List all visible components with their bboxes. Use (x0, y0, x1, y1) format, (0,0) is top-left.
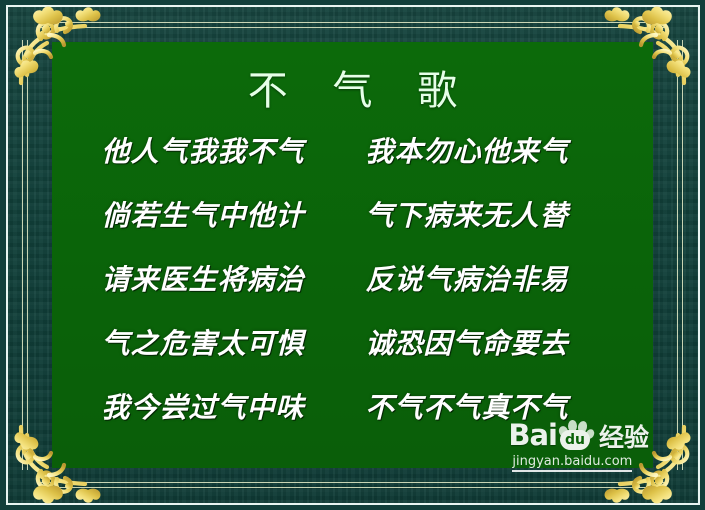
frame-rule-right-outer (682, 40, 683, 470)
verse-half-right: 气下病来无人替 (350, 194, 614, 234)
frame-rule-left-outer (22, 40, 23, 470)
frame-rule-left-inner (27, 40, 28, 470)
verse-half-left: 倘若生气中他计 (92, 194, 350, 234)
verse-half-left: 气之危害太可惧 (92, 322, 350, 362)
verse-half-right: 诚恐因气命要去 (350, 322, 614, 362)
poster-canvas: 不 气 歌 他人气我我不气 我本勿心他来气 倘若生气中他计 气下病来无人替 请来… (0, 0, 705, 510)
poster-content: 不 气 歌 他人气我我不气 我本勿心他来气 倘若生气中他计 气下病来无人替 请来… (52, 42, 653, 468)
verse-row: 他人气我我不气 我本勿心他来气 (52, 130, 653, 194)
verse-half-right: 反说气病治非易 (350, 258, 614, 298)
verse-half-left: 他人气我我不气 (92, 130, 350, 170)
verse-row: 我今尝过气中味 不气不气真不气 (52, 386, 653, 450)
frame-rule-bottom-inner (40, 482, 665, 483)
verse-row: 气之危害太可惧 诚恐因气命要去 (52, 322, 653, 386)
verse-list: 他人气我我不气 我本勿心他来气 倘若生气中他计 气下病来无人替 请来医生将病治 … (52, 130, 653, 450)
verse-half-left: 请来医生将病治 (92, 258, 350, 298)
page-title: 不 气 歌 (52, 58, 653, 116)
verse-half-right: 不气不气真不气 (350, 386, 614, 426)
verse-half-right: 我本勿心他来气 (350, 130, 614, 170)
verse-row: 请来医生将病治 反说气病治非易 (52, 258, 653, 322)
verse-half-left: 我今尝过气中味 (92, 386, 350, 426)
frame-rule-top-outer (40, 22, 665, 23)
verse-row: 倘若生气中他计 气下病来无人替 (52, 194, 653, 258)
frame-rule-top-inner (40, 27, 665, 28)
frame-rule-bottom-outer (40, 487, 665, 488)
frame-rule-right-inner (677, 40, 678, 470)
